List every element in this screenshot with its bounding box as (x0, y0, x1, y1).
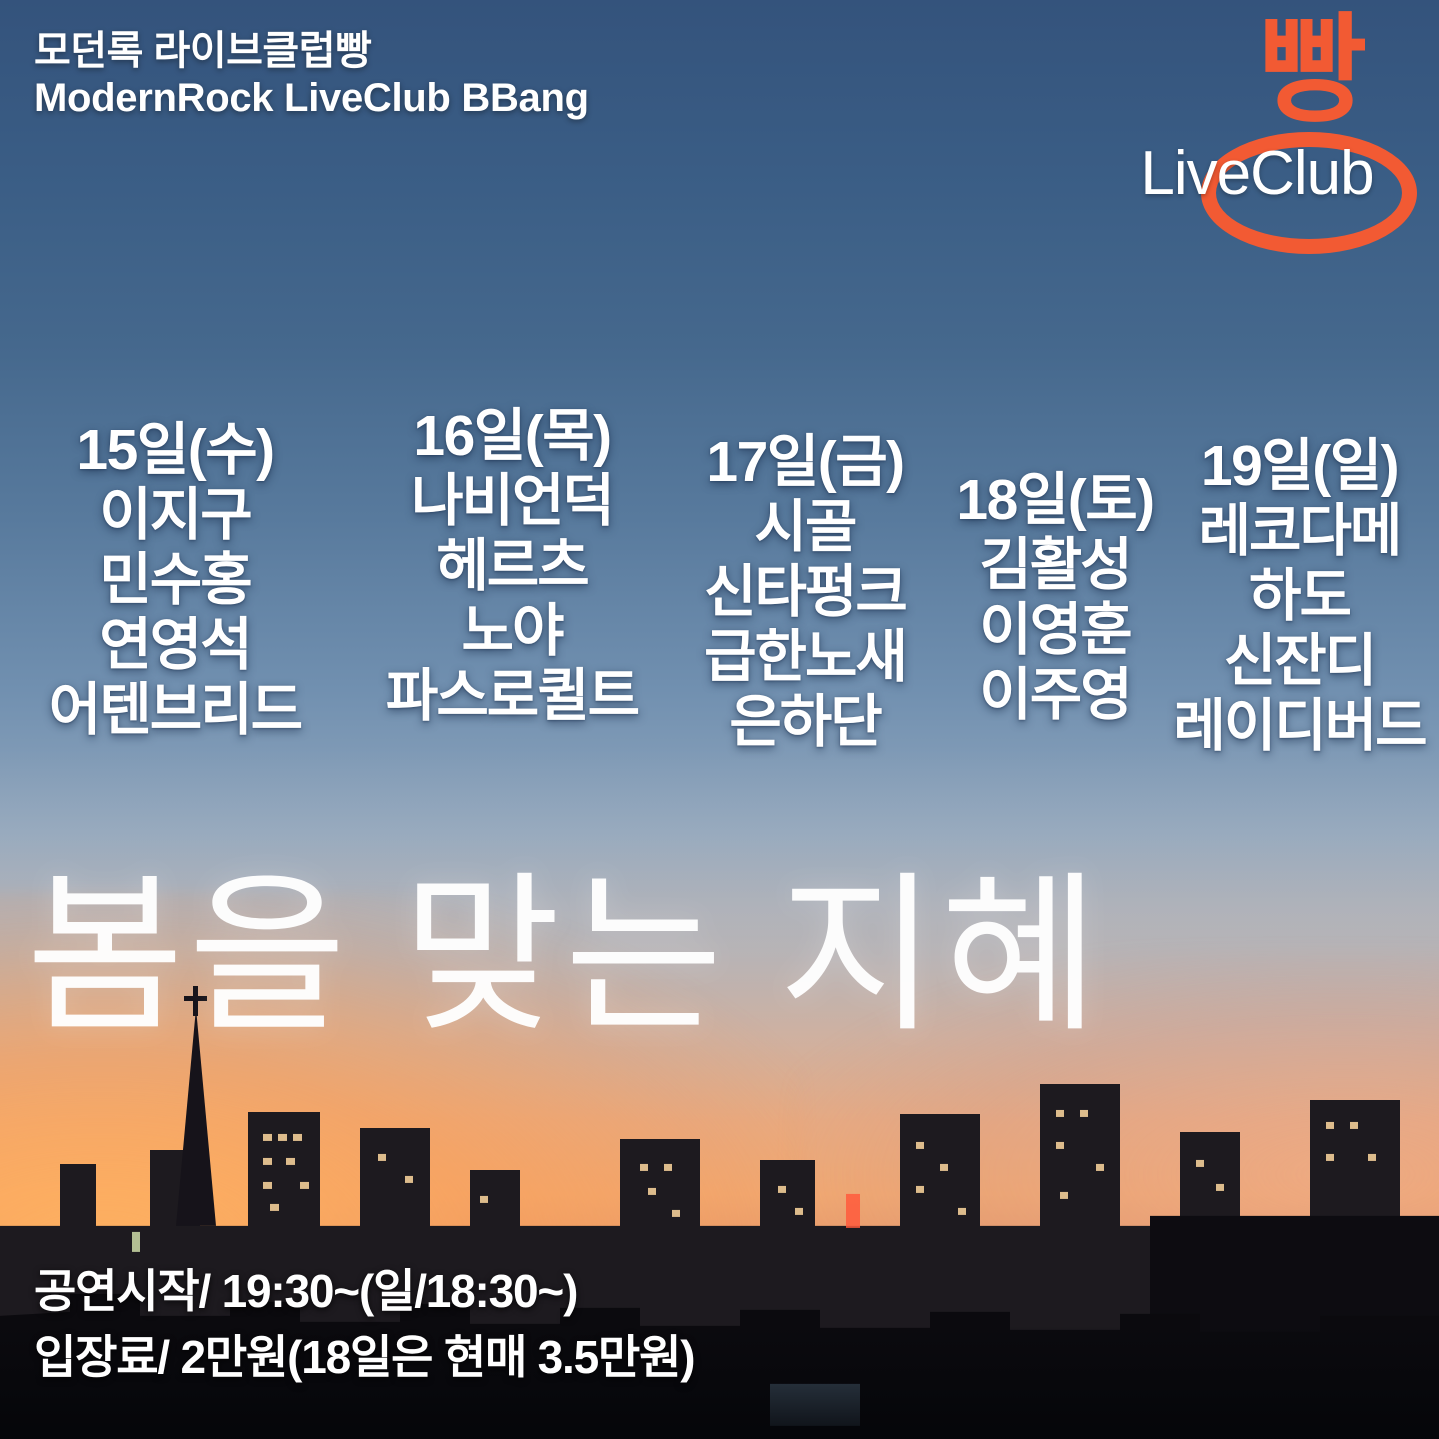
lineup-date: 17일(금) (680, 430, 930, 495)
lineup-act: 시골 (680, 495, 930, 560)
event-title: 봄을 맞는 지혜 (26, 866, 1103, 1047)
lineup-act: 김활성 (935, 533, 1175, 598)
lineup-column-day-5: 19일(일) 레코다메 하도 신잔디 레이디버드 (1160, 434, 1439, 759)
lineup-act: 이영훈 (935, 598, 1175, 663)
lineup-act: 어텐브리드 (10, 678, 340, 743)
lineup-act: 헤르츠 (352, 534, 672, 599)
poster-canvas: 모던록 라이브클럽빵 ModernRock LiveClub BBang 빵 L… (0, 0, 1439, 1439)
lineup-date: 18일(토) (935, 468, 1175, 533)
lineup-column-day-1: 15일(수) 이지구 민수홍 연영석 어텐브리드 (10, 418, 340, 743)
lineup-act: 이지구 (10, 483, 340, 548)
lineup-date: 16일(목) (352, 404, 672, 469)
lineup-date: 19일(일) (1160, 434, 1439, 499)
lineup-column-day-3: 17일(금) 시골 신타펑크 급한노새 은하단 (680, 430, 930, 755)
event-info: 공연시작/ 19:30~(일/18:30~) 입장료/ 2만원(18일은 현매 … (34, 1258, 694, 1391)
lineup-act: 급한노새 (680, 625, 930, 690)
lineup-date: 15일(수) (10, 418, 340, 483)
lineup-grid: 15일(수) 이지구 민수홍 연영석 어텐브리드 16일(목) 나비언덕 헤르츠… (0, 0, 1439, 1439)
lineup-column-day-2: 16일(목) 나비언덕 헤르츠 노야 파스로퀼트 (352, 404, 672, 729)
lineup-act: 하도 (1160, 564, 1439, 629)
price-info: 입장료/ 2만원(18일은 현매 3.5만원) (34, 1324, 694, 1391)
lineup-column-day-4: 18일(토) 김활성 이영훈 이주영 (935, 468, 1175, 728)
lineup-act: 파스로퀼트 (352, 664, 672, 729)
lineup-act: 노야 (352, 599, 672, 664)
lineup-act: 연영석 (10, 613, 340, 678)
lineup-act: 이주영 (935, 663, 1175, 728)
lineup-act: 민수홍 (10, 548, 340, 613)
lineup-act: 레코다메 (1160, 499, 1439, 564)
lineup-act: 신잔디 (1160, 629, 1439, 694)
showtime-info: 공연시작/ 19:30~(일/18:30~) (34, 1258, 694, 1325)
lineup-act: 레이디버드 (1160, 694, 1439, 759)
lineup-act: 신타펑크 (680, 560, 930, 625)
lineup-act: 은하단 (680, 690, 930, 755)
lineup-act: 나비언덕 (352, 469, 672, 534)
